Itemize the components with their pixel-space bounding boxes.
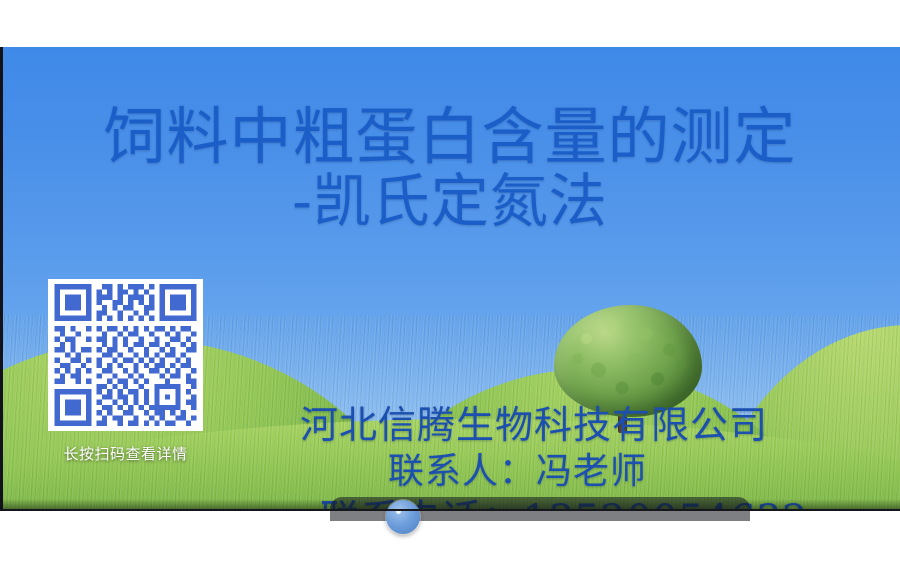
stage-edge-left	[0, 47, 3, 511]
video-stage[interactable]: 饲料中粗蛋白含量的测定 -凯氏定氮法	[0, 47, 900, 511]
title-block: 饲料中粗蛋白含量的测定 -凯氏定氮法	[0, 105, 900, 231]
qr-block[interactable]: 长按扫码查看详情	[48, 279, 208, 464]
video-page: 饲料中粗蛋白含量的测定 -凯氏定氮法	[0, 0, 900, 561]
contact-person: 联系人：冯老师	[300, 453, 900, 491]
tree-canopy	[554, 305, 702, 417]
video-title-secondary: -凯氏定氮法	[0, 172, 900, 231]
company-name: 河北信腾生物科技有限公司	[300, 405, 900, 445]
player-frame-line	[0, 509, 900, 511]
qr-caption: 长按扫码查看详情	[48, 443, 203, 464]
letterbox-top	[0, 0, 900, 47]
player-scrub-knob[interactable]	[386, 500, 420, 534]
qr-code-icon[interactable]	[48, 279, 203, 431]
company-info-block: 河北信腾生物科技有限公司 联系人：冯老师 联系电话：13520054632	[300, 405, 900, 511]
video-title-primary: 饲料中粗蛋白含量的测定	[0, 105, 900, 168]
